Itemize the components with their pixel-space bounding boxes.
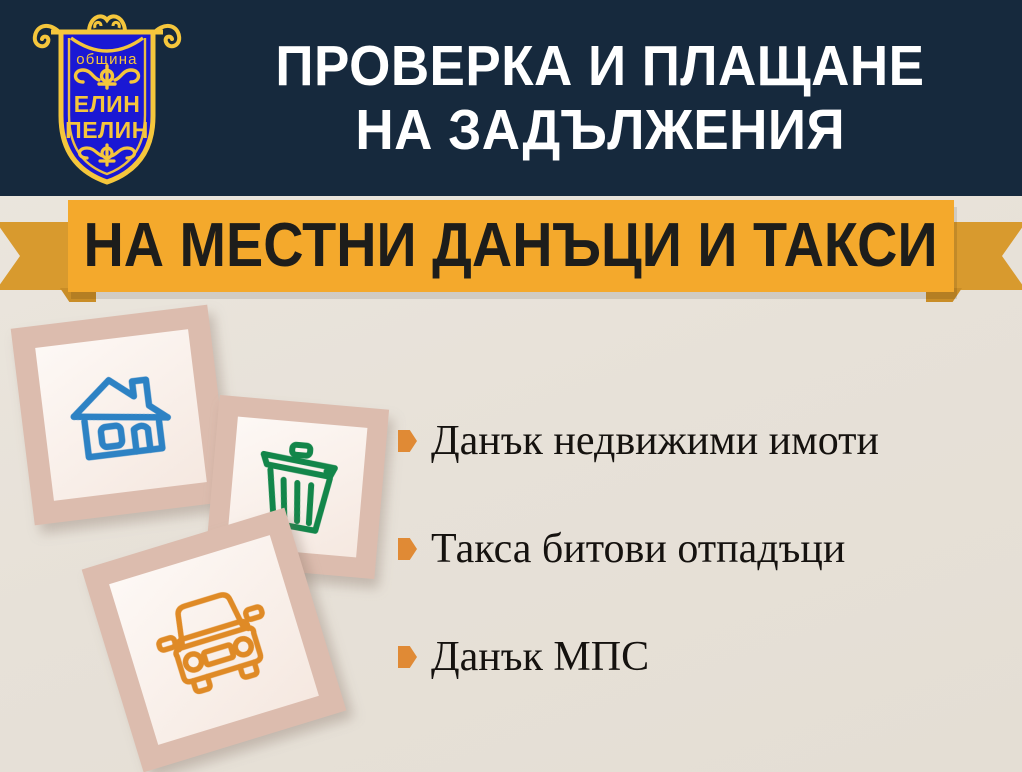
ribbon-label: НА МЕСТНИ ДАНЪЦИ И ТАКСИ	[84, 215, 938, 277]
arrow-bullet-icon	[398, 430, 417, 452]
page-title-line-2: НА ЗАДЪЛЖЕНИЯ	[355, 98, 845, 162]
subtitle-ribbon: НА МЕСТНИ ДАНЪЦИ И ТАКСИ	[0, 196, 1022, 312]
crest-name-line-1: ЕЛИН	[74, 91, 141, 117]
list-item[interactable]: Данък недвижими имоти	[398, 420, 1008, 462]
car-front-icon	[144, 576, 284, 704]
ribbon-banner: НА МЕСТНИ ДАНЪЦИ И ТАКСИ	[68, 200, 954, 292]
poster-header: община ЕЛИН ПЕЛИН	[0, 0, 1022, 196]
house-icon	[60, 359, 181, 472]
poster-canvas: община ЕЛИН ПЕЛИН	[0, 0, 1022, 772]
stamp-paper	[35, 329, 207, 501]
list-item-label: Данък недвижими имоти	[431, 420, 879, 462]
list-item-label: Такса битови отпадъци	[431, 528, 845, 570]
list-item[interactable]: Данък МПС	[398, 636, 1008, 678]
arrow-bullet-icon	[398, 646, 417, 668]
list-item-label: Данък МПС	[431, 636, 649, 678]
tax-type-list: Данък недвижими имоти Такса битови отпад…	[398, 420, 1008, 678]
page-title: ПРОВЕРКА И ПЛАЩАНЕ НА ЗАДЪЛЖЕНИЯ	[190, 14, 1010, 182]
list-item[interactable]: Такса битови отпадъци	[398, 528, 1008, 570]
crest-name-line-2: ПЕЛИН	[65, 117, 149, 143]
page-title-line-1: ПРОВЕРКА И ПЛАЩАНЕ	[275, 34, 924, 98]
stamp-card-property	[11, 305, 232, 526]
coat-of-arms-icon: община ЕЛИН ПЕЛИН	[27, 8, 187, 188]
arrow-bullet-icon	[398, 538, 417, 560]
